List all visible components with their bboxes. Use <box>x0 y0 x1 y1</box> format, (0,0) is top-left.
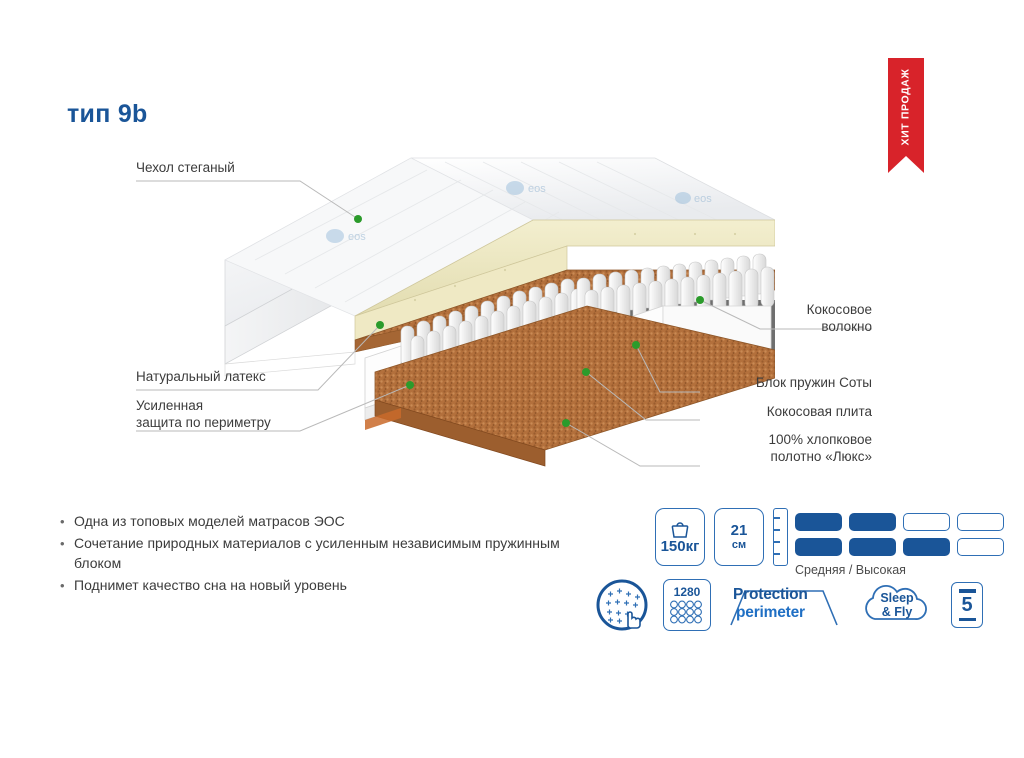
feature-bullet-list: Одна из топовых моделей матрасов ЭОС Соч… <box>58 512 578 598</box>
max-weight-icon: 150кг <box>655 508 705 566</box>
sleepfly-line-1: Sleep <box>857 591 937 605</box>
height-icon: 21 см <box>714 508 764 566</box>
callout-perimeter-line-2: защита по периметру <box>136 414 271 431</box>
protection-line-2: perimeter <box>736 604 808 622</box>
independent-springs-icon <box>595 578 649 632</box>
sleep-and-fly-logo: Sleep & Fly <box>857 579 937 631</box>
callout-perimeter: Усиленная защита по периметру <box>136 397 271 431</box>
spring-count-value: 1280 <box>674 586 701 598</box>
firmness-cell <box>849 538 896 556</box>
ribbon-line-2: ПРОДАЖ <box>899 69 911 120</box>
firmness-row-top <box>795 513 1004 531</box>
firmness-indicator: Средняя / Высокая <box>795 513 1004 577</box>
callout-coconut-fiber-line-2: волокно <box>700 318 872 335</box>
list-item: Одна из топовых моделей матрасов ЭОС <box>74 512 578 532</box>
firmness-label: Средняя / Высокая <box>795 563 1004 577</box>
callout-latex: Натуральный латекс <box>136 368 266 385</box>
warranty-years-icon: 5 <box>951 582 983 628</box>
callout-coconut-plate-label: Кокосовая плита <box>767 404 872 419</box>
firmness-row-bottom <box>795 538 1004 556</box>
list-item: Поднимет качество сна на новый уровень <box>74 576 578 596</box>
callout-spring-block-label: Блок пружин Соты <box>756 375 872 390</box>
spec-icon-panel: 150кг 21 см Средняя / <box>595 505 995 645</box>
sleepfly-line-2: & Fly <box>857 605 937 619</box>
spring-count-icon: 1280 <box>663 579 711 631</box>
ribbon-line-1: ХИТ <box>899 123 911 146</box>
protection-perimeter-text: Protection perimeter <box>733 586 808 621</box>
callout-perimeter-line-1: Усиленная <box>136 397 271 414</box>
warranty-years-value: 5 <box>961 596 972 615</box>
max-weight-value: 150кг <box>661 539 700 555</box>
height-value: 21 <box>731 523 748 539</box>
firmness-cell <box>849 513 896 531</box>
weight-glyph <box>669 519 691 539</box>
svg-text:eos: eos <box>528 183 546 195</box>
bestseller-ribbon-text: ХИТ ПРОДАЖ <box>899 69 912 146</box>
callout-cotton-line-2: полотно «Люкс» <box>660 448 872 465</box>
callout-spring-block: Блок пружин Соты <box>660 374 872 391</box>
firmness-cell <box>957 538 1004 556</box>
callout-cover-label: Чехол стеганый <box>136 160 235 175</box>
firmness-cell <box>903 538 950 556</box>
warranty-bar-top <box>959 589 976 592</box>
height-unit: см <box>732 539 746 552</box>
callout-cotton-fabric: 100% хлопковое полотно «Люкс» <box>660 431 872 465</box>
spec-row-primary: 150кг 21 см <box>655 508 788 566</box>
ruler-icon <box>773 508 788 566</box>
firmness-cell <box>957 513 1004 531</box>
callout-cotton-line-1: 100% хлопковое <box>660 431 872 448</box>
firmness-cell <box>795 538 842 556</box>
svg-text:eos: eos <box>348 231 366 243</box>
infographic-canvas: тип 9b ХИТ ПРОДАЖ <box>0 0 1024 758</box>
callout-coconut-fiber-line-1: Кокосовое <box>700 301 872 318</box>
callout-cover: Чехол стеганый <box>136 159 235 176</box>
protection-line-1: Protection <box>733 586 808 603</box>
spec-row-badges: 1280 Protection perimeter <box>595 578 983 632</box>
callout-latex-label: Натуральный латекс <box>136 369 266 384</box>
warranty-bar-bottom <box>959 618 976 621</box>
callout-coconut-fiber: Кокосовое волокно <box>700 301 872 335</box>
list-item: Сочетание природных материалов с усиленн… <box>74 534 578 573</box>
svg-text:eos: eos <box>694 193 712 205</box>
ribbon-notch <box>888 156 924 173</box>
callout-coconut-plate: Кокосовая плита <box>660 403 872 420</box>
firmness-cell <box>903 513 950 531</box>
spring-dots-glyph <box>669 600 705 624</box>
protection-perimeter-logo: Protection perimeter <box>725 579 843 631</box>
sleep-and-fly-text: Sleep & Fly <box>857 591 937 619</box>
firmness-cell <box>795 513 842 531</box>
bestseller-ribbon: ХИТ ПРОДАЖ <box>888 58 924 156</box>
page-title: тип 9b <box>67 100 148 129</box>
